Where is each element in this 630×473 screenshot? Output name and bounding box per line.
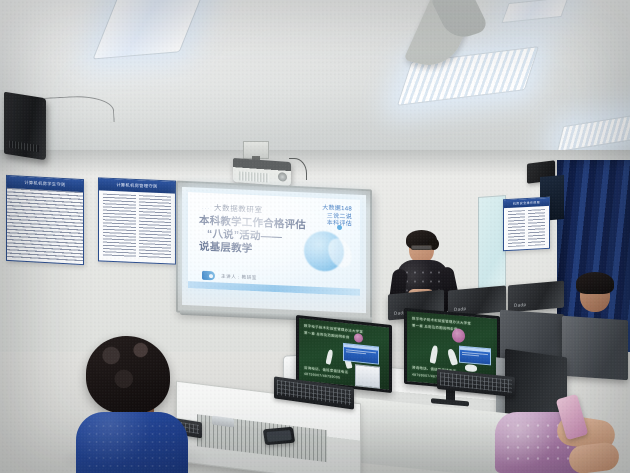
monitor-brand-label: Dadp bbox=[454, 306, 466, 312]
slide-corner-note: 大数据148 三说二说 本科评估 bbox=[322, 205, 352, 229]
poster-text-column bbox=[528, 209, 545, 246]
slide-eyebrow-dots: ··· bbox=[202, 206, 210, 212]
poster-text-column bbox=[139, 195, 172, 258]
monitor-panel-card bbox=[355, 364, 380, 389]
presenter-glasses-icon bbox=[411, 245, 432, 250]
monitor-graphic-blob bbox=[452, 328, 465, 343]
poster-body-text bbox=[99, 190, 175, 261]
projector-lens-icon bbox=[278, 172, 287, 182]
slide-title-line-3: 说基层教学 bbox=[199, 241, 253, 255]
projected-slide: ···大数据教研室 本科教学工作合格评估 “八说”活动—— 说基层教学 大数据1… bbox=[188, 192, 360, 296]
slide-eyebrow: ···大数据教研室 bbox=[202, 202, 263, 216]
wall-poster-safety: 机房安全操作规程 bbox=[503, 197, 550, 251]
smartphone-on-desk[interactable] bbox=[263, 427, 295, 445]
ceiling-projector bbox=[233, 158, 291, 186]
slide-byline: 主讲人 : 教研室 bbox=[221, 274, 257, 282]
wall-poster-lab-rules: 计算机机房管理守则 bbox=[98, 177, 176, 264]
slide-brand-logo-icon bbox=[202, 271, 215, 281]
student-right-rear bbox=[566, 270, 630, 330]
wall-speaker-left bbox=[4, 92, 46, 161]
slide-eyebrow-text: 大数据教研室 bbox=[214, 203, 263, 214]
dialog-text-line bbox=[346, 351, 366, 354]
slide-corner-line-3: 本科评估 bbox=[322, 220, 352, 229]
poster-body-text bbox=[504, 206, 549, 250]
student-shirt bbox=[76, 412, 188, 473]
student-purple-floral bbox=[495, 400, 615, 473]
poster-text-column bbox=[508, 210, 525, 247]
dialog-text-line bbox=[462, 354, 479, 356]
monitor-body-text: 第一章 总则及范围说明条例 bbox=[412, 324, 458, 332]
monitor-figure-graphic bbox=[429, 345, 438, 364]
classroom-photo: 计算机机房学生守则 计算机机房管理守则 机房安全操作规程 ···大数据教研室 bbox=[0, 0, 630, 473]
monitor-figure-graphic bbox=[465, 364, 477, 372]
poster-text-column bbox=[103, 194, 136, 257]
monitor-brand-label: Dadp bbox=[514, 302, 526, 308]
student-hair bbox=[576, 272, 614, 294]
monitor-figure-graphic bbox=[447, 348, 459, 365]
student-hair bbox=[86, 336, 170, 414]
monitor-dialog-box[interactable] bbox=[459, 346, 491, 366]
wall-poster-student-rules: 计算机机房学生守则 bbox=[6, 175, 84, 265]
monitor-graphic-blob bbox=[354, 333, 363, 343]
monitor-dialog-box[interactable] bbox=[343, 343, 379, 365]
monitor-rear: Dadp bbox=[508, 281, 564, 313]
student-blue-shirt-back-view bbox=[76, 336, 186, 473]
slide-title: 本科教学工作合格评估 “八说”活动—— 说基层教学 bbox=[199, 215, 317, 259]
monitor-figure-graphic bbox=[325, 349, 333, 365]
projector-vent bbox=[239, 171, 269, 182]
poster-body-text bbox=[7, 188, 83, 262]
